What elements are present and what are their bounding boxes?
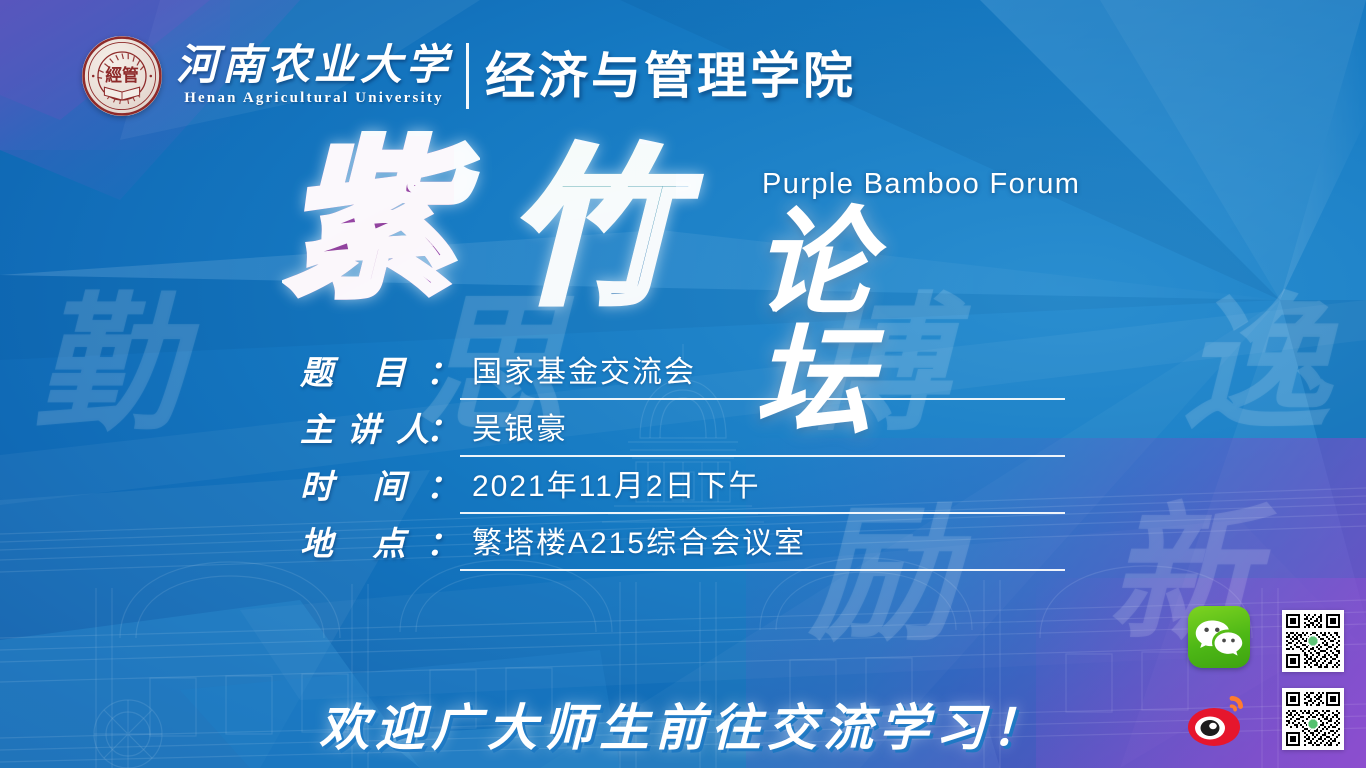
info-label-speaker-tail: 人 [396, 403, 430, 451]
info-label-venue-text: 地 [300, 517, 347, 565]
info-label-time-colon: ： [426, 460, 460, 508]
info-label-topic: 题 目 ： [300, 346, 460, 400]
info-label-time-text: 时 [300, 460, 347, 508]
info-row-time: 时 间 ： 2021年11月2日下午 [300, 457, 1065, 514]
forum-title-block: 紫 竹 论坛 Purple Bamboo Forum [284, 128, 1084, 328]
info-label-speaker-colon: ： [426, 403, 460, 451]
wechat-icon[interactable] [1188, 606, 1250, 668]
info-row-venue: 地 点 ： 繁塔楼A215综合会议室 [300, 514, 1065, 571]
info-label-venue-colon: ： [426, 517, 460, 565]
info-row-topic: 题 目 ： 国家基金交流会 [300, 343, 1065, 400]
info-label-topic-text: 题 [300, 346, 347, 394]
qr-code-weibo[interactable] [1282, 688, 1344, 750]
info-label-time: 时 间 ： [300, 460, 460, 514]
seal-center-glyphs: 經管 [105, 65, 139, 85]
university-name-block: 河南农业大学 Henan Agricultural University 经济与… [176, 43, 856, 109]
header-branding: 經管 河南农业大学 Henan Agricultural University … [82, 36, 856, 116]
college-seal-logo: 經管 [82, 36, 162, 116]
header-divider [466, 43, 469, 109]
info-label-topic-colon: ： [426, 346, 460, 394]
weibo-icon[interactable] [1186, 690, 1250, 748]
qr-codes-group [1282, 610, 1344, 750]
title-char-zi: 紫 [284, 136, 454, 306]
info-label-venue-tail: 点 [373, 517, 407, 565]
forum-subtitle-en: Purple Bamboo Forum [762, 168, 1080, 201]
info-row-speaker: 主讲 人 ： 吴银豪 [300, 400, 1065, 457]
title-char-zhu: 竹 [508, 144, 676, 312]
qr-code-wechat[interactable] [1282, 610, 1344, 672]
info-label-topic-tail: 目 [373, 346, 407, 394]
info-label-speaker-text: 主讲 [300, 403, 394, 451]
poster-canvas: 勤 思 博 逸 励 新 [0, 0, 1366, 768]
social-icons-group [1186, 606, 1256, 748]
university-name-cn: 河南农业大学 [176, 43, 452, 87]
info-value-speaker: 吴银豪 [460, 404, 1065, 457]
info-label-speaker: 主讲 人 ： [300, 403, 460, 457]
university-name-en: Henan Agricultural University [176, 90, 452, 107]
info-label-venue: 地 点 ： [300, 517, 460, 571]
event-details-block: 题 目 ： 国家基金交流会 主讲 人 ： 吴银豪 时 间 ： 2021年11月2… [300, 343, 1065, 571]
info-value-topic: 国家基金交流会 [460, 347, 1065, 400]
info-label-time-tail: 间 [373, 460, 407, 508]
info-value-venue: 繁塔楼A215综合会议室 [460, 518, 1065, 571]
info-value-time: 2021年11月2日下午 [460, 461, 1065, 514]
college-name-cn: 经济与管理学院 [485, 51, 856, 101]
welcome-slogan: 欢迎广大师生前往交流学习！ [0, 688, 1366, 760]
